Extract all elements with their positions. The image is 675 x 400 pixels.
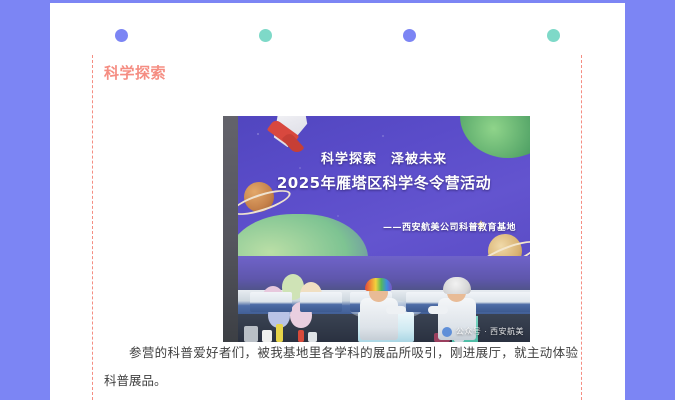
article-paragraph: 参营的科普爱好者们，被我基地里各学科的展品所吸引，刚进展厅，就主动体验科普展品。 xyxy=(104,339,578,395)
projection-screen: 科学探索 泽被未来 2025年雁塔区科学冬令营活动 ——西安航美公司科普教育基地 xyxy=(238,116,530,256)
dot-1 xyxy=(115,29,128,42)
wall-strip xyxy=(223,116,238,342)
bench-unit xyxy=(250,292,292,312)
dashed-guide-right xyxy=(581,55,582,400)
bench-unit xyxy=(500,292,530,312)
banner-title-line1: 科学探索 泽被未来 xyxy=(238,148,530,167)
white-wig xyxy=(443,277,471,294)
lab-coat xyxy=(360,298,398,340)
photo-watermark: 公众号 · 西安航美 xyxy=(442,326,524,337)
watermark-label: 公众号 · 西安航美 xyxy=(456,326,524,337)
dot-4 xyxy=(547,29,560,42)
article-sheet: 科学探索 科学探索 xyxy=(50,0,625,400)
bench-unit xyxy=(300,292,342,312)
article-figure: 科学探索 泽被未来 2025年雁塔区科学冬令营活动 ——西安航美公司科普教育基地… xyxy=(223,116,530,342)
banner-subtitle-line3: ——西安航美公司科普教育基地 xyxy=(238,220,530,233)
banner-title-line2: 2025年雁塔区科学冬令营活动 xyxy=(238,172,530,193)
dot-2 xyxy=(259,29,272,42)
dot-3 xyxy=(403,29,416,42)
rainbow-wig xyxy=(365,278,392,291)
arm xyxy=(386,306,406,314)
dashed-guide-left xyxy=(92,55,93,400)
presenter-rainbow-wig xyxy=(356,278,402,340)
section-heading: 科学探索 xyxy=(104,64,166,84)
wechat-badge-icon xyxy=(442,327,452,337)
photo-frame[interactable]: 科学探索 泽被未来 2025年雁塔区科学冬令营活动 ——西安航美公司科普教育基地… xyxy=(223,116,530,342)
page-root: 科学探索 科学探索 xyxy=(0,0,675,400)
decorative-dot-row xyxy=(50,29,625,45)
arm xyxy=(428,306,448,314)
